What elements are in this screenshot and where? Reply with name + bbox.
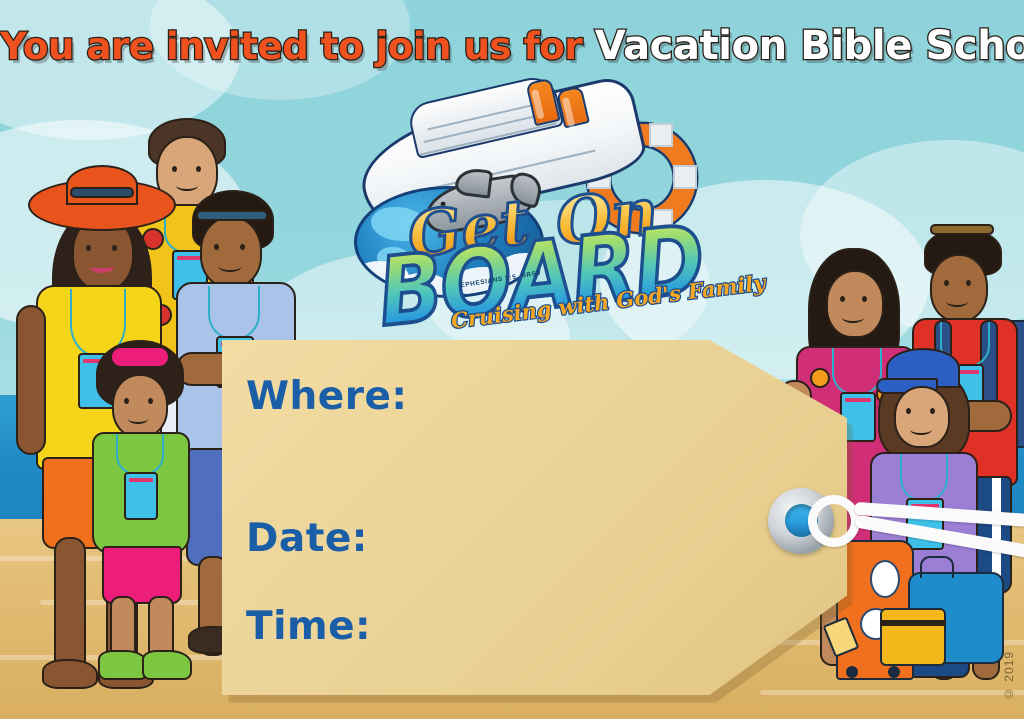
lanyard <box>208 286 260 340</box>
shorts <box>102 546 182 604</box>
face <box>826 270 884 338</box>
person-young-girl-with-pink-hairband <box>88 340 198 690</box>
eye <box>906 408 911 414</box>
eye <box>214 244 219 250</box>
eye <box>124 398 129 404</box>
mouth <box>842 312 864 323</box>
eye <box>148 398 153 404</box>
yellow-case <box>880 608 946 666</box>
lanyard <box>116 434 164 476</box>
mouth <box>218 260 242 272</box>
sand-texture-line <box>760 690 1024 695</box>
vbs-logo: Get On BOARD EPHESIANS 5:5, NRSV Cruisin… <box>352 86 692 331</box>
mouth <box>946 296 968 307</box>
face <box>112 374 168 438</box>
page-title: You are invited to join us for Vacation … <box>0 20 1024 72</box>
sneaker <box>142 650 192 680</box>
mouth <box>910 424 932 435</box>
copyright-notice: © 2019 <box>1002 651 1016 701</box>
sunglasses-icon <box>196 210 268 221</box>
face <box>894 386 950 448</box>
face <box>930 254 988 322</box>
hat-crown <box>66 165 138 205</box>
field-label-where: Where: <box>246 374 408 419</box>
eye <box>930 408 935 414</box>
field-label-date: Date: <box>246 516 368 561</box>
sunglasses-icon <box>70 187 134 198</box>
field-label-time: Time: <box>246 604 371 649</box>
eye <box>86 245 91 251</box>
sneaker <box>98 650 148 680</box>
eye <box>944 280 949 286</box>
hair-band <box>110 346 170 368</box>
eye <box>862 296 867 302</box>
eye <box>966 280 971 286</box>
suitcase-wheel <box>846 666 858 678</box>
suitcase-sticker-eiffel <box>870 560 900 598</box>
vbs-invitation-poster: You are invited to join us for Vacation … <box>0 0 1024 719</box>
eye <box>196 166 201 172</box>
eye <box>112 245 117 251</box>
eye <box>840 296 845 302</box>
lanyard <box>900 454 948 502</box>
sunglasses-on-head-icon <box>930 224 994 235</box>
suitcase-handle <box>920 556 954 578</box>
mouth <box>128 414 148 424</box>
eye <box>240 244 245 250</box>
yellow-case-band <box>880 620 946 626</box>
arm <box>16 305 46 455</box>
headline-invite-text: You are invited to join us for <box>0 25 582 68</box>
face <box>200 216 262 288</box>
mouth <box>90 261 114 273</box>
headline-event-name: Vacation Bible School. <box>595 23 1024 69</box>
name-badge <box>124 472 158 520</box>
suitcase-wheel <box>888 666 900 678</box>
dress-flower <box>810 368 830 388</box>
